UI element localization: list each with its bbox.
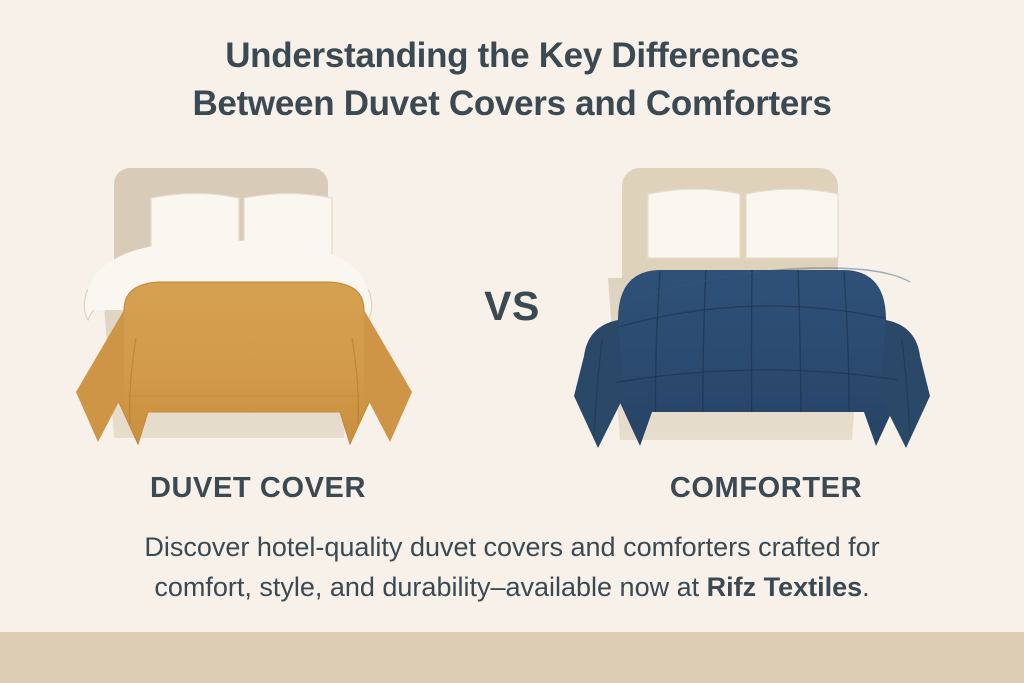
caption-line-2-suffix: . (862, 572, 870, 602)
caption-line-2: comfort, style, and durability–available… (52, 568, 972, 608)
brand-name: Rifz Textiles (707, 572, 863, 602)
infographic-canvas: Understanding the Key Differences Betwee… (0, 0, 1024, 683)
label-duvet-cover: DUVET COVER (58, 472, 458, 505)
comforter-illustration (566, 160, 966, 460)
page-title: Understanding the Key Differences Betwee… (0, 32, 1024, 129)
title-line-2: Between Duvet Covers and Comforters (0, 80, 1024, 128)
comforter-svg (566, 160, 966, 460)
caption-line-1: Discover hotel-quality duvet covers and … (52, 528, 972, 568)
caption-line-2-prefix: comfort, style, and durability–available… (154, 572, 706, 602)
pillow-left-shape (648, 189, 740, 258)
comforter-right-lobe (880, 320, 930, 448)
pillow-right-shape (746, 189, 838, 258)
label-comforter: COMFORTER (566, 472, 966, 505)
title-line-1: Understanding the Key Differences (0, 32, 1024, 80)
footer-bar (0, 632, 1024, 683)
comforter-left-lobe (574, 320, 624, 448)
caption-block: Discover hotel-quality duvet covers and … (52, 528, 972, 608)
